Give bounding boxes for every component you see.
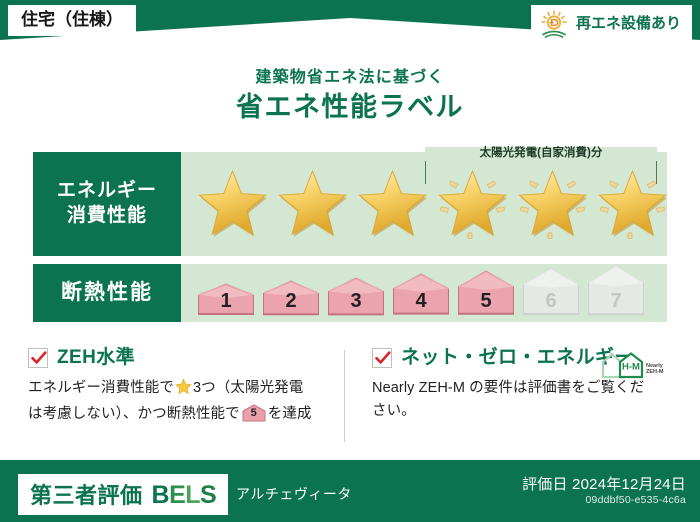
insulation-grade-6: 6 [520, 265, 582, 317]
criterion-net-zero: ネット・ゼロ・エネルギー H-M Nearly ZEH-M Nearly ZEH… [350, 348, 672, 444]
renewable-equipment-label: 再エネ設備あり [576, 15, 681, 33]
zeh-logo-text: H-M [622, 362, 640, 373]
star-base [355, 167, 430, 241]
insulation-grade-1: 1 [195, 281, 257, 317]
inline-grade-value: 5 [242, 405, 266, 423]
star-base [275, 167, 350, 241]
insulation-grade-7: 7 [585, 262, 647, 317]
insulation-performance-row: 断熱性能 1 2 3 4 [33, 264, 667, 322]
star-icon [195, 167, 270, 241]
criterion-net-zero-header: ネット・ゼロ・エネルギー H-M Nearly ZEH-M [372, 348, 656, 369]
energy-label-line2: 消費性能 [67, 204, 147, 229]
label-subtitle: 建築物省エネ法に基づく [0, 63, 700, 87]
star-icon [275, 167, 350, 241]
check-icon [28, 348, 48, 368]
insulation-label-text: 断熱性能 [61, 279, 153, 306]
company-name: アルチェヴィータ [236, 484, 352, 504]
zeh-m-logo: H-M Nearly ZEH-M [600, 350, 664, 385]
bels-energy-label: 住宅（住棟） 再エネ設備あり [0, 0, 700, 522]
dwelling-type-tag: 住宅（住棟） [8, 5, 136, 36]
label-footer: 第三者評価 BELS アルチェヴィータ 評価日 2024年12月24日 09dd… [0, 460, 700, 522]
evaluation-date-label: 評価日 [522, 476, 568, 493]
bels-letter: E [169, 481, 185, 509]
criterion-zeh-text3: は考慮しない）、かつ断熱性能で [28, 406, 240, 422]
insulation-grade-5: 5 [455, 268, 517, 317]
criterion-zeh-title: ZEH水準 [57, 348, 135, 369]
criterion-zeh: ZEH水準 エネルギー消費性能で3つ（太陽光発電 は考慮しない）、かつ断熱性能で… [28, 348, 350, 444]
insulation-grade-2: 2 [260, 278, 322, 317]
star-icon [355, 167, 430, 241]
insulation-performance-body: 1 2 3 4 5 [181, 264, 667, 322]
insulation-grade-scale: 1 2 3 4 5 [195, 262, 647, 317]
bels-letter: L [185, 481, 200, 509]
sun-solar-icon [539, 10, 569, 38]
insulation-grade-value: 4 [390, 290, 452, 313]
renewable-equipment-tag: 再エネ設備あり [531, 5, 692, 44]
dwelling-type-label: 住宅（住棟） [21, 10, 123, 29]
insulation-grade-value: 5 [455, 290, 517, 313]
insulation-grade-4: 4 [390, 271, 452, 317]
insulation-grade-value: 6 [520, 290, 582, 313]
insulation-grade-3: 3 [325, 275, 387, 317]
bels-letter: B [152, 481, 170, 509]
insulation-grade-value: 3 [325, 290, 387, 313]
check-icon [372, 348, 392, 368]
evaluation-date: 評価日 2024年12月24日 [522, 473, 686, 494]
label-title: 省エネ性能ラベル [0, 85, 700, 124]
criterion-net-zero-title: ネット・ゼロ・エネルギー [401, 348, 634, 369]
energy-performance-label: エネルギー 消費性能 [33, 152, 181, 256]
energy-label-line1: エネルギー [57, 179, 157, 204]
bels-letter: S [200, 481, 216, 509]
bels-badge: 第三者評価 BELS [18, 474, 228, 515]
insulation-grade-value: 2 [260, 290, 322, 313]
evaluation-id: 09ddbf50-e535-4c6a [585, 494, 686, 506]
zeh-logo-caption2: ZEH-M [646, 369, 664, 375]
inline-grade-badge: 5 [242, 404, 266, 422]
criterion-zeh-body: エネルギー消費性能で3つ（太陽光発電 は考慮しない）、かつ断熱性能で5を達成 [28, 377, 334, 427]
insulation-grade-value: 1 [195, 290, 257, 313]
inline-star-icon [175, 378, 192, 403]
criterion-zeh-text4: を達成 [268, 406, 312, 422]
star-base [195, 167, 270, 241]
insulation-performance-label: 断熱性能 [33, 264, 181, 322]
insulation-grade-value: 7 [585, 290, 647, 313]
bels-en-text: BELS [152, 481, 217, 510]
criterion-zeh-text1: エネルギー消費性能で [28, 380, 174, 396]
criteria-section: ZEH水準 エネルギー消費性能で3つ（太陽光発電 は考慮しない）、かつ断熱性能で… [28, 348, 672, 444]
evaluation-date-value: 2024年12月24日 [572, 476, 686, 493]
solar-caption: 太陽光発電(自家消費)分 [425, 147, 657, 161]
criterion-zeh-header: ZEH水準 [28, 348, 334, 369]
criterion-zeh-text2: 3つ（太陽光発電 [193, 380, 303, 396]
solar-bracket [425, 160, 657, 184]
bels-jp-text: 第三者評価 [30, 478, 143, 510]
